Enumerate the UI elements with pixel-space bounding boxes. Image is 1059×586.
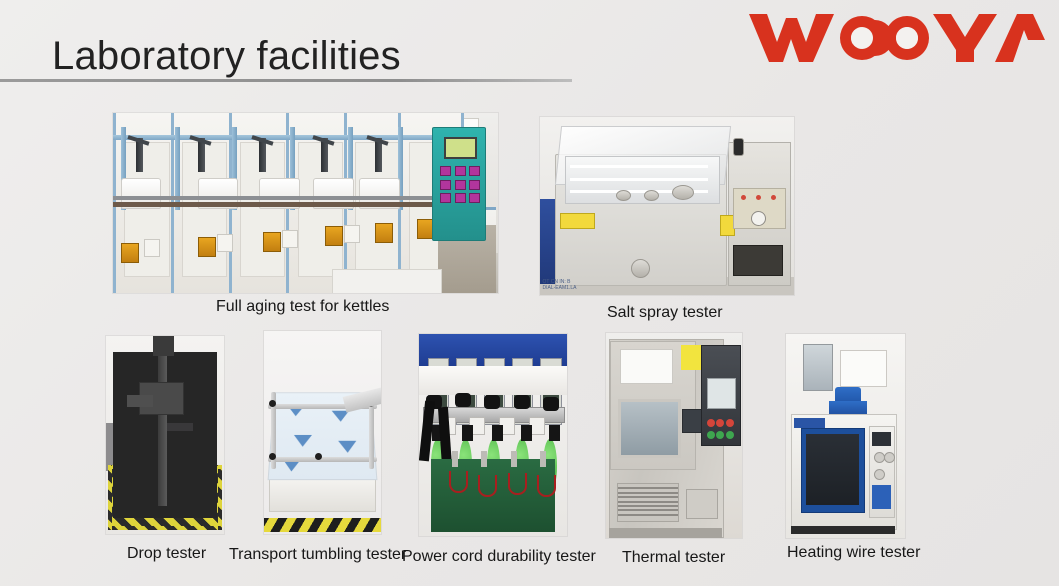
clamp-knob[interactable] <box>455 393 471 407</box>
photo-power-cord-durability-tester[interactable] <box>419 334 567 536</box>
lid-strut <box>570 165 707 168</box>
machine-base <box>431 459 555 532</box>
caption-transport-tumbling-tester: Transport tumbling tester <box>229 546 406 564</box>
work-table <box>332 269 442 293</box>
swing-head <box>492 425 503 441</box>
photo-transport-tumbling-tester[interactable] <box>264 331 381 534</box>
photo-salt-spray-tester[interactable]: OT CN IN: B DIAL-EAM1.LA <box>540 117 794 295</box>
panel-button[interactable] <box>440 166 451 176</box>
wooya-logo <box>745 6 1045 68</box>
test-wire <box>478 475 497 497</box>
panel-button[interactable] <box>455 180 466 190</box>
panel-button[interactable] <box>469 193 480 203</box>
lid-strut <box>570 178 707 181</box>
warning-label <box>560 213 595 229</box>
caption-drop-tester: Drop tester <box>127 545 206 563</box>
page-title: Laboratory facilities <box>52 34 401 79</box>
panel-button[interactable] <box>440 193 451 203</box>
terminal-post <box>540 451 546 467</box>
terminal-post <box>481 451 487 467</box>
reset-button[interactable] <box>726 419 734 427</box>
panel-button[interactable] <box>469 180 480 190</box>
spray-nozzle <box>733 138 744 156</box>
photo-thermal-tester[interactable] <box>606 333 742 538</box>
socket-box <box>263 232 281 252</box>
clamp-knob[interactable] <box>543 397 559 411</box>
photo-full-aging-test-for-kettles[interactable] <box>113 113 498 293</box>
caption-full-aging-test-for-kettles: Full aging test for kettles <box>216 298 389 316</box>
caption-power-cord-durability-tester: Power cord durability tester <box>402 548 596 566</box>
lower-gauge-box <box>733 245 783 275</box>
panel-button[interactable] <box>455 166 466 176</box>
lid-knob[interactable] <box>672 185 694 200</box>
socket-box <box>217 234 233 252</box>
panel-button[interactable] <box>469 166 480 176</box>
drop-column <box>158 348 167 506</box>
clamp-knob[interactable] <box>514 395 530 409</box>
swing-head <box>521 425 532 441</box>
socket-box <box>144 239 160 257</box>
clamp-knob[interactable] <box>484 395 500 409</box>
frame-beam <box>113 135 444 140</box>
warning-label <box>681 345 703 370</box>
hazard-floor-tape <box>264 518 381 532</box>
socket-box <box>198 237 216 257</box>
lcd-display <box>444 137 477 159</box>
water-tank-drawer[interactable] <box>686 489 718 520</box>
caption-heating-wire-tester: Heating wire tester <box>787 544 920 562</box>
socket-box <box>282 230 298 248</box>
viewing-glass <box>806 434 858 505</box>
keypad[interactable] <box>872 485 891 509</box>
test-wire <box>449 471 468 493</box>
bench-rail <box>113 196 444 200</box>
digital-readout <box>872 432 891 446</box>
panel-divider <box>419 366 567 394</box>
panel-button[interactable] <box>440 180 451 190</box>
test-wire <box>508 473 527 495</box>
caption-thermal-tester: Thermal tester <box>622 549 725 567</box>
brand-label <box>794 418 825 428</box>
carriage-arm <box>127 395 153 407</box>
pivot-bolt <box>269 400 276 407</box>
terminal-post <box>452 451 458 467</box>
socket-box <box>325 226 343 246</box>
lcd-display <box>707 378 736 409</box>
test-wire <box>537 475 556 497</box>
slide-canvas: Laboratory facilities <box>0 0 1059 586</box>
cabinet-base <box>791 526 896 534</box>
vent-grill <box>617 483 679 522</box>
chamber-base <box>609 528 722 538</box>
bench-rail <box>113 202 444 207</box>
swing-head <box>549 425 560 441</box>
photo-drop-tester[interactable] <box>106 336 224 534</box>
chamber-label <box>620 349 674 384</box>
exhaust-hood <box>803 344 834 391</box>
specimen-tray <box>167 423 193 431</box>
socket-box <box>344 225 360 243</box>
observation-window <box>618 399 681 458</box>
control-knob[interactable] <box>874 469 885 480</box>
column-top <box>153 336 174 356</box>
watermark: OT CN IN: B DIAL-EAM1.LA <box>543 279 577 291</box>
socket-box <box>375 223 393 243</box>
pivot-bolt <box>269 453 276 460</box>
control-panel[interactable] <box>432 127 486 241</box>
socket-box <box>121 243 139 263</box>
stop-button[interactable] <box>707 419 715 427</box>
wall-sign <box>840 350 887 387</box>
panel-button[interactable] <box>455 193 466 203</box>
indicator-led <box>741 195 746 200</box>
terminal-post <box>511 451 517 467</box>
guide-rail <box>268 457 378 462</box>
caption-salt-spray-tester: Salt spray tester <box>607 304 723 322</box>
control-knob[interactable] <box>884 452 895 463</box>
photo-heating-wire-tester[interactable] <box>786 334 905 538</box>
title-underline <box>0 79 572 82</box>
swing-head <box>462 425 473 441</box>
lid-knob[interactable] <box>644 190 659 201</box>
